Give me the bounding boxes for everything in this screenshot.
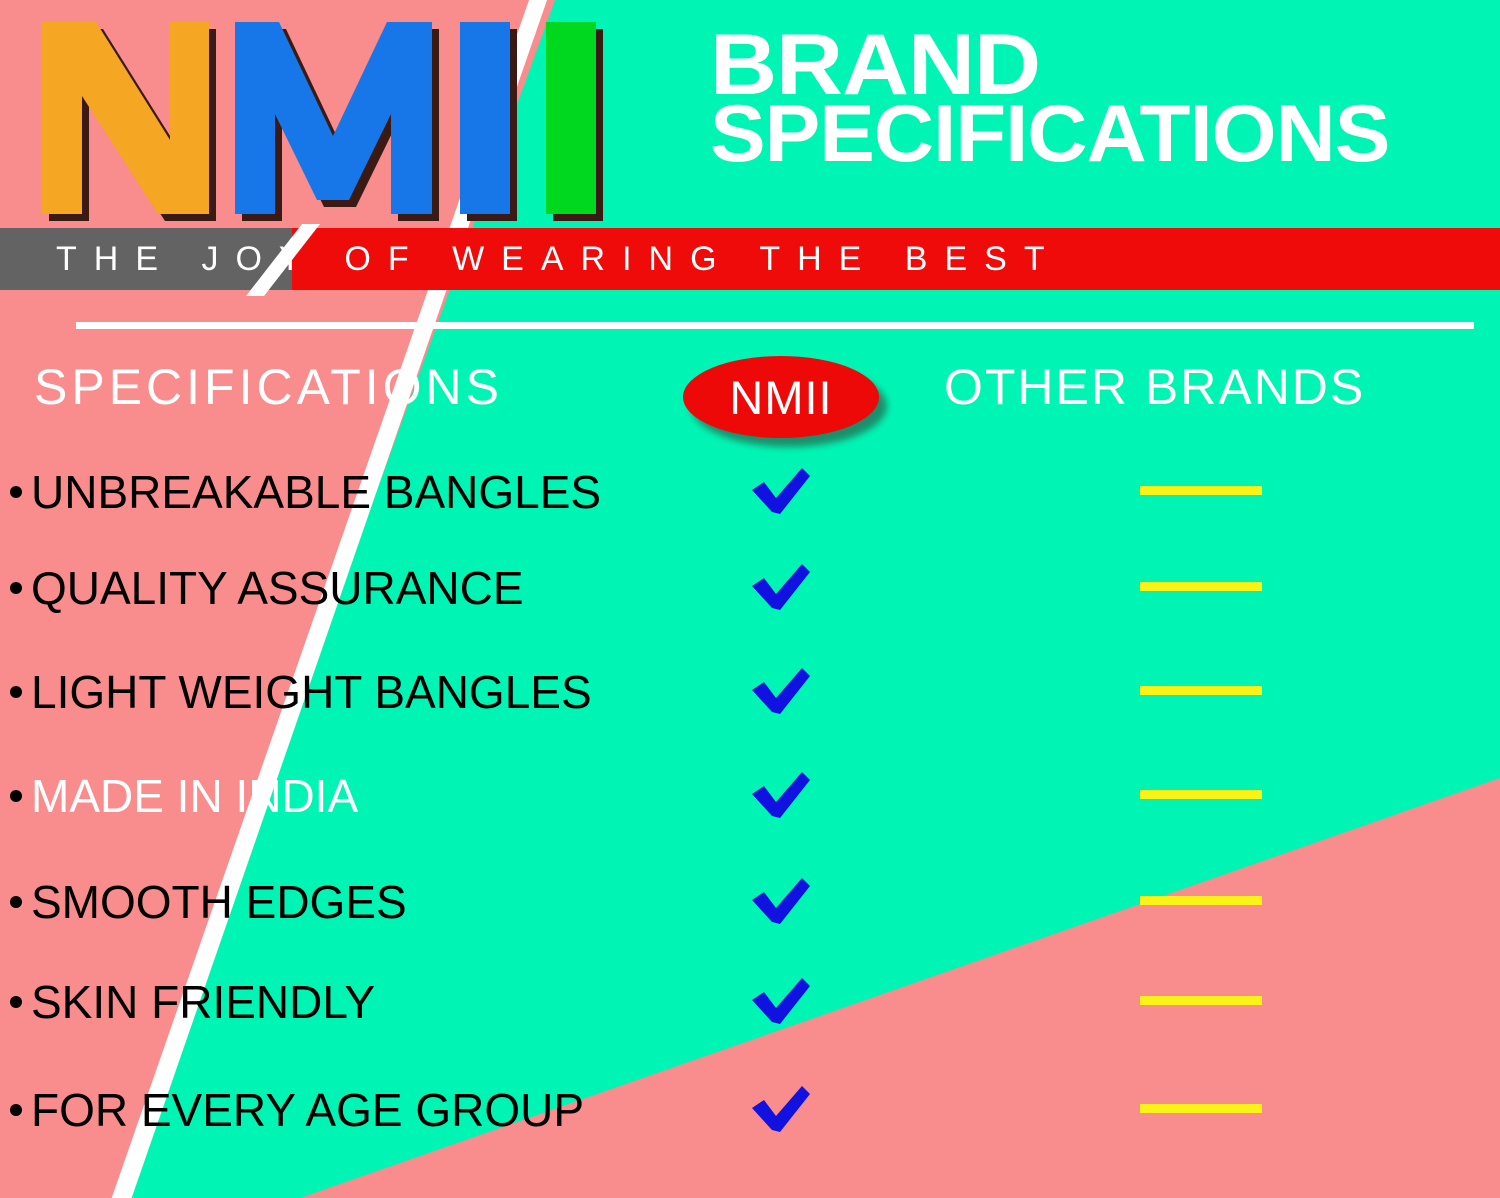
brand-logo	[38, 18, 602, 223]
dash-mark-icon	[1140, 790, 1262, 799]
table-row: QUALITY ASSURANCE	[0, 558, 1500, 618]
column-header-specifications: SPECIFICATIONS	[34, 358, 503, 416]
logo-letter-n	[38, 18, 213, 218]
nmii-badge-label: NMII	[729, 370, 832, 425]
bullet-dot-icon	[10, 686, 22, 698]
check-mark-icon	[750, 668, 812, 716]
spec-label-row-2: LIGHT WEIGHT BANGLES	[10, 662, 592, 722]
bullet-dot-icon	[10, 486, 22, 498]
spec-label-text: FOR EVERY AGE GROUP	[31, 1083, 584, 1137]
check-mark-icon	[750, 468, 812, 516]
check-mark-icon	[750, 1086, 812, 1134]
bullet-dot-icon	[10, 582, 22, 594]
table-row: MADE IN INDIA	[0, 766, 1500, 826]
logo-letter-i-1	[454, 18, 516, 218]
spec-label-text: LIGHT WEIGHT BANGLES	[31, 665, 592, 719]
dash-mark-icon	[1140, 582, 1262, 591]
spec-label-text: SKIN FRIENDLY	[31, 975, 375, 1029]
table-row: UNBREAKABLE BANGLES	[0, 462, 1500, 522]
brand-title-line2: SPECIFICATIONS	[710, 101, 1389, 167]
header-divider	[76, 322, 1474, 329]
dash-mark-icon	[1140, 486, 1262, 495]
bullet-dot-icon	[10, 1104, 22, 1116]
bullet-dot-icon	[10, 790, 22, 802]
check-mark-icon	[750, 978, 812, 1026]
spec-label-row-4: SMOOTH EDGES	[10, 872, 407, 932]
column-header-other-brands: OTHER BRANDS	[944, 358, 1365, 416]
brand-title: BRAND SPECIFICATIONS	[710, 30, 1370, 167]
spec-label-row-3: MADE IN INDIA	[10, 766, 358, 826]
bullet-dot-icon	[10, 896, 22, 908]
check-mark-icon	[750, 772, 812, 820]
dash-mark-icon	[1140, 1104, 1262, 1113]
table-row: LIGHT WEIGHT BANGLES	[0, 662, 1500, 722]
dash-mark-icon	[1140, 686, 1262, 695]
table-row: SKIN FRIENDLY	[0, 972, 1500, 1032]
table-row: FOR EVERY AGE GROUP	[0, 1080, 1500, 1140]
table-row: SMOOTH EDGES	[0, 872, 1500, 932]
logo-letter-m	[231, 18, 436, 218]
logo-letter-i-2	[540, 18, 602, 218]
spec-label-text: QUALITY ASSURANCE	[31, 561, 524, 615]
spec-label-row-5: SKIN FRIENDLY	[10, 972, 375, 1032]
dash-mark-icon	[1140, 996, 1262, 1005]
spec-label-text: SMOOTH EDGES	[31, 875, 407, 929]
spec-label-text: MADE IN INDIA	[31, 769, 358, 823]
nmii-badge: NMII	[683, 356, 879, 438]
tagline-bar: THE JOY OF WEARING THE BEST	[0, 228, 1500, 290]
infographic-canvas: BRAND SPECIFICATIONS THE JOY OF WEARING …	[0, 0, 1500, 1198]
dash-mark-icon	[1140, 896, 1262, 905]
check-mark-icon	[750, 564, 812, 612]
spec-label-row-0: UNBREAKABLE BANGLES	[10, 462, 601, 522]
check-mark-icon	[750, 878, 812, 926]
spec-label-text: UNBREAKABLE BANGLES	[31, 465, 601, 519]
bullet-dot-icon	[10, 996, 22, 1008]
tagline-text: THE JOY OF WEARING THE BEST	[56, 228, 1062, 290]
nmii-badge-ellipse: NMII	[683, 356, 879, 438]
spec-label-row-6: FOR EVERY AGE GROUP	[10, 1080, 584, 1140]
spec-label-row-1: QUALITY ASSURANCE	[10, 558, 524, 618]
